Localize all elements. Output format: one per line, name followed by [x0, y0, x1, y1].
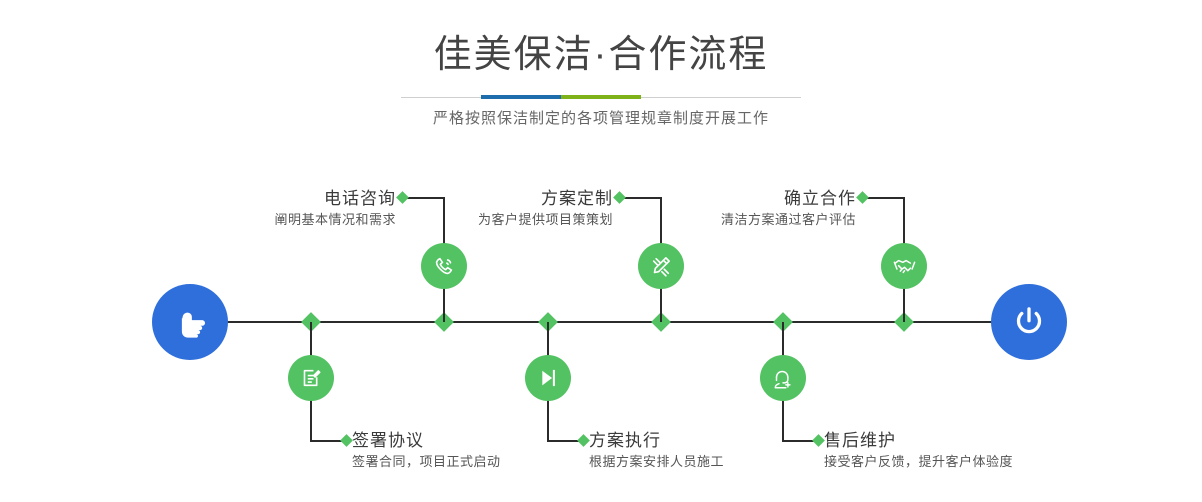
pointing-hand-icon: [170, 302, 210, 342]
step-title: 电话咨询: [151, 188, 396, 210]
step-title: 售后维护: [824, 430, 1154, 452]
step-label-bottom-3: 售后维护 接受客户反馈，提升客户体验度: [824, 430, 1154, 472]
divider-segment-blue: [481, 95, 561, 99]
step-desc: 为客户提供项目策策划: [370, 210, 613, 230]
phone-call-icon: [431, 253, 457, 279]
step-icon-handshake[interactable]: [881, 243, 927, 289]
pencil-ruler-icon: [648, 253, 674, 279]
power-icon: [1008, 301, 1050, 343]
step-desc: 接受客户反馈，提升客户体验度: [824, 452, 1154, 472]
step-icon-play-skip[interactable]: [525, 355, 571, 401]
leader-dot: [856, 191, 869, 204]
page-title: 佳美保洁·合作流程: [0, 36, 1202, 74]
leader-dot: [340, 434, 353, 447]
end-endpoint[interactable]: [991, 284, 1067, 360]
step-label-top-3: 确立合作 清洁方案通过客户评估: [610, 188, 856, 230]
step-label-top-1: 电话咨询 阐明基本情况和需求: [151, 188, 396, 230]
step-title: 方案定制: [370, 188, 613, 210]
support-agent-add-icon: [770, 365, 796, 391]
step-icon-document-edit[interactable]: [288, 355, 334, 401]
play-skip-icon: [535, 365, 561, 391]
handshake-icon: [891, 253, 918, 280]
step-icon-pencil-ruler[interactable]: [638, 243, 684, 289]
step-icon-support-agent[interactable]: [760, 355, 806, 401]
start-endpoint[interactable]: [152, 284, 228, 360]
step-desc: 阐明基本情况和需求: [151, 210, 396, 230]
step-title: 确立合作: [610, 188, 856, 210]
divider-segment-green: [561, 95, 641, 99]
title-divider: [401, 95, 801, 99]
connector-elbow: [863, 197, 905, 199]
step-label-top-2: 方案定制 为客户提供项目策策划: [370, 188, 613, 230]
step-icon-phone-call[interactable]: [421, 243, 467, 289]
page-subtitle: 严格按照保洁制定的各项管理规章制度开展工作: [0, 107, 1202, 128]
document-edit-icon: [298, 365, 324, 391]
step-desc: 清洁方案通过客户评估: [610, 210, 856, 230]
flow-diagram: 佳美保洁·合作流程 严格按照保洁制定的各项管理规章制度开展工作: [0, 0, 1202, 502]
